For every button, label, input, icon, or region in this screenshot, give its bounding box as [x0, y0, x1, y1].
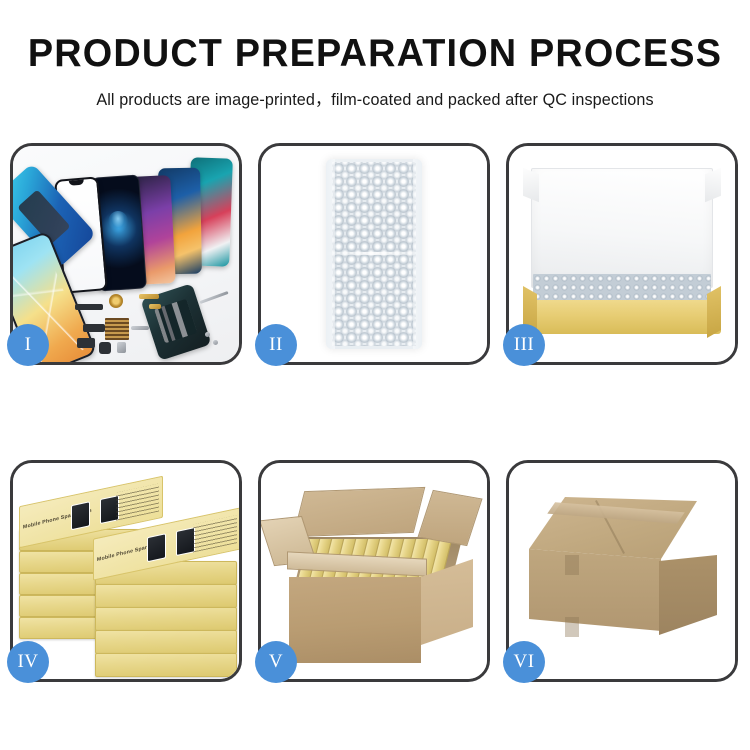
step-badge-2: II [255, 324, 297, 366]
bag-edge-left [326, 159, 335, 349]
mailer-lid [531, 168, 713, 288]
part-gold-contact-2 [149, 304, 161, 309]
part-flex-cable-1 [75, 304, 103, 310]
part-connector-chip [105, 318, 129, 340]
step-5-image [261, 463, 487, 679]
process-step-grid: I II III [10, 143, 740, 682]
part-gold-contact [139, 294, 159, 299]
bag-seam [326, 252, 422, 255]
part-flex-cable-2 [83, 324, 105, 332]
step-1-image [13, 146, 239, 362]
box-spec-text-back [116, 483, 159, 521]
page-header: PRODUCT PREPARATION PROCESS All products… [0, 0, 750, 110]
page-subtitle: All products are image-printed，film-coat… [8, 86, 743, 110]
process-step-5: V [258, 460, 490, 682]
step-badge-6: VI [503, 641, 545, 683]
part-camera-module [117, 342, 126, 353]
open-shipping-carton [275, 493, 473, 661]
bag-edge-right [413, 159, 422, 349]
step-6-image [509, 463, 735, 679]
part-speaker-coil [109, 294, 123, 308]
step-2-image [261, 146, 487, 362]
box-product-photo-back-1 [71, 501, 90, 530]
bubble-wrap-bag [326, 159, 422, 349]
step-badge-5: V [255, 641, 297, 683]
step-badge-4: IV [7, 641, 49, 683]
part-screw-2 [213, 340, 218, 345]
box-product-photo-front-1 [147, 533, 166, 562]
sealed-carton-side-face [659, 555, 717, 635]
part-vibrator [99, 342, 111, 354]
stack-box-front-2 [95, 584, 237, 608]
part-antenna-strip [131, 326, 149, 330]
process-step-4: Mobile Phone Spare Parts Mobile Phone Sp… [10, 460, 242, 682]
step-3-image [509, 146, 735, 362]
part-tweezer-tool [199, 291, 228, 304]
sealed-carton-handle-top [565, 555, 579, 575]
carton-flap-right [417, 490, 482, 546]
process-step-6: VI [506, 460, 738, 682]
page-title: PRODUCT PREPARATION PROCESS [11, 34, 739, 73]
retail-box-stack: Mobile Phone Spare Parts Mobile Phone Sp… [19, 483, 229, 669]
process-step-3: III [506, 143, 738, 365]
sealed-shipping-carton [529, 497, 717, 655]
part-speaker-module [77, 338, 95, 348]
open-mailer-box [523, 164, 721, 314]
box-spec-text-front [193, 515, 237, 553]
sealed-carton-front-face [529, 547, 663, 631]
carton-front-face [289, 577, 421, 663]
box-product-photo-front-2 [176, 527, 195, 556]
process-step-2: II [258, 143, 490, 365]
step-badge-3: III [503, 324, 545, 366]
stack-box-front-4 [95, 630, 237, 654]
process-step-1: I [10, 143, 242, 365]
sealed-carton-handle-bottom [565, 617, 579, 637]
step-4-image: Mobile Phone Spare Parts Mobile Phone Sp… [13, 463, 239, 679]
carton-flap-back [293, 487, 426, 537]
stack-box-front-3 [95, 607, 237, 631]
step-badge-1: I [7, 324, 49, 366]
stack-box-front-5 [95, 653, 237, 677]
part-screw-1 [205, 332, 210, 337]
mailer-base-kraft [523, 300, 721, 334]
